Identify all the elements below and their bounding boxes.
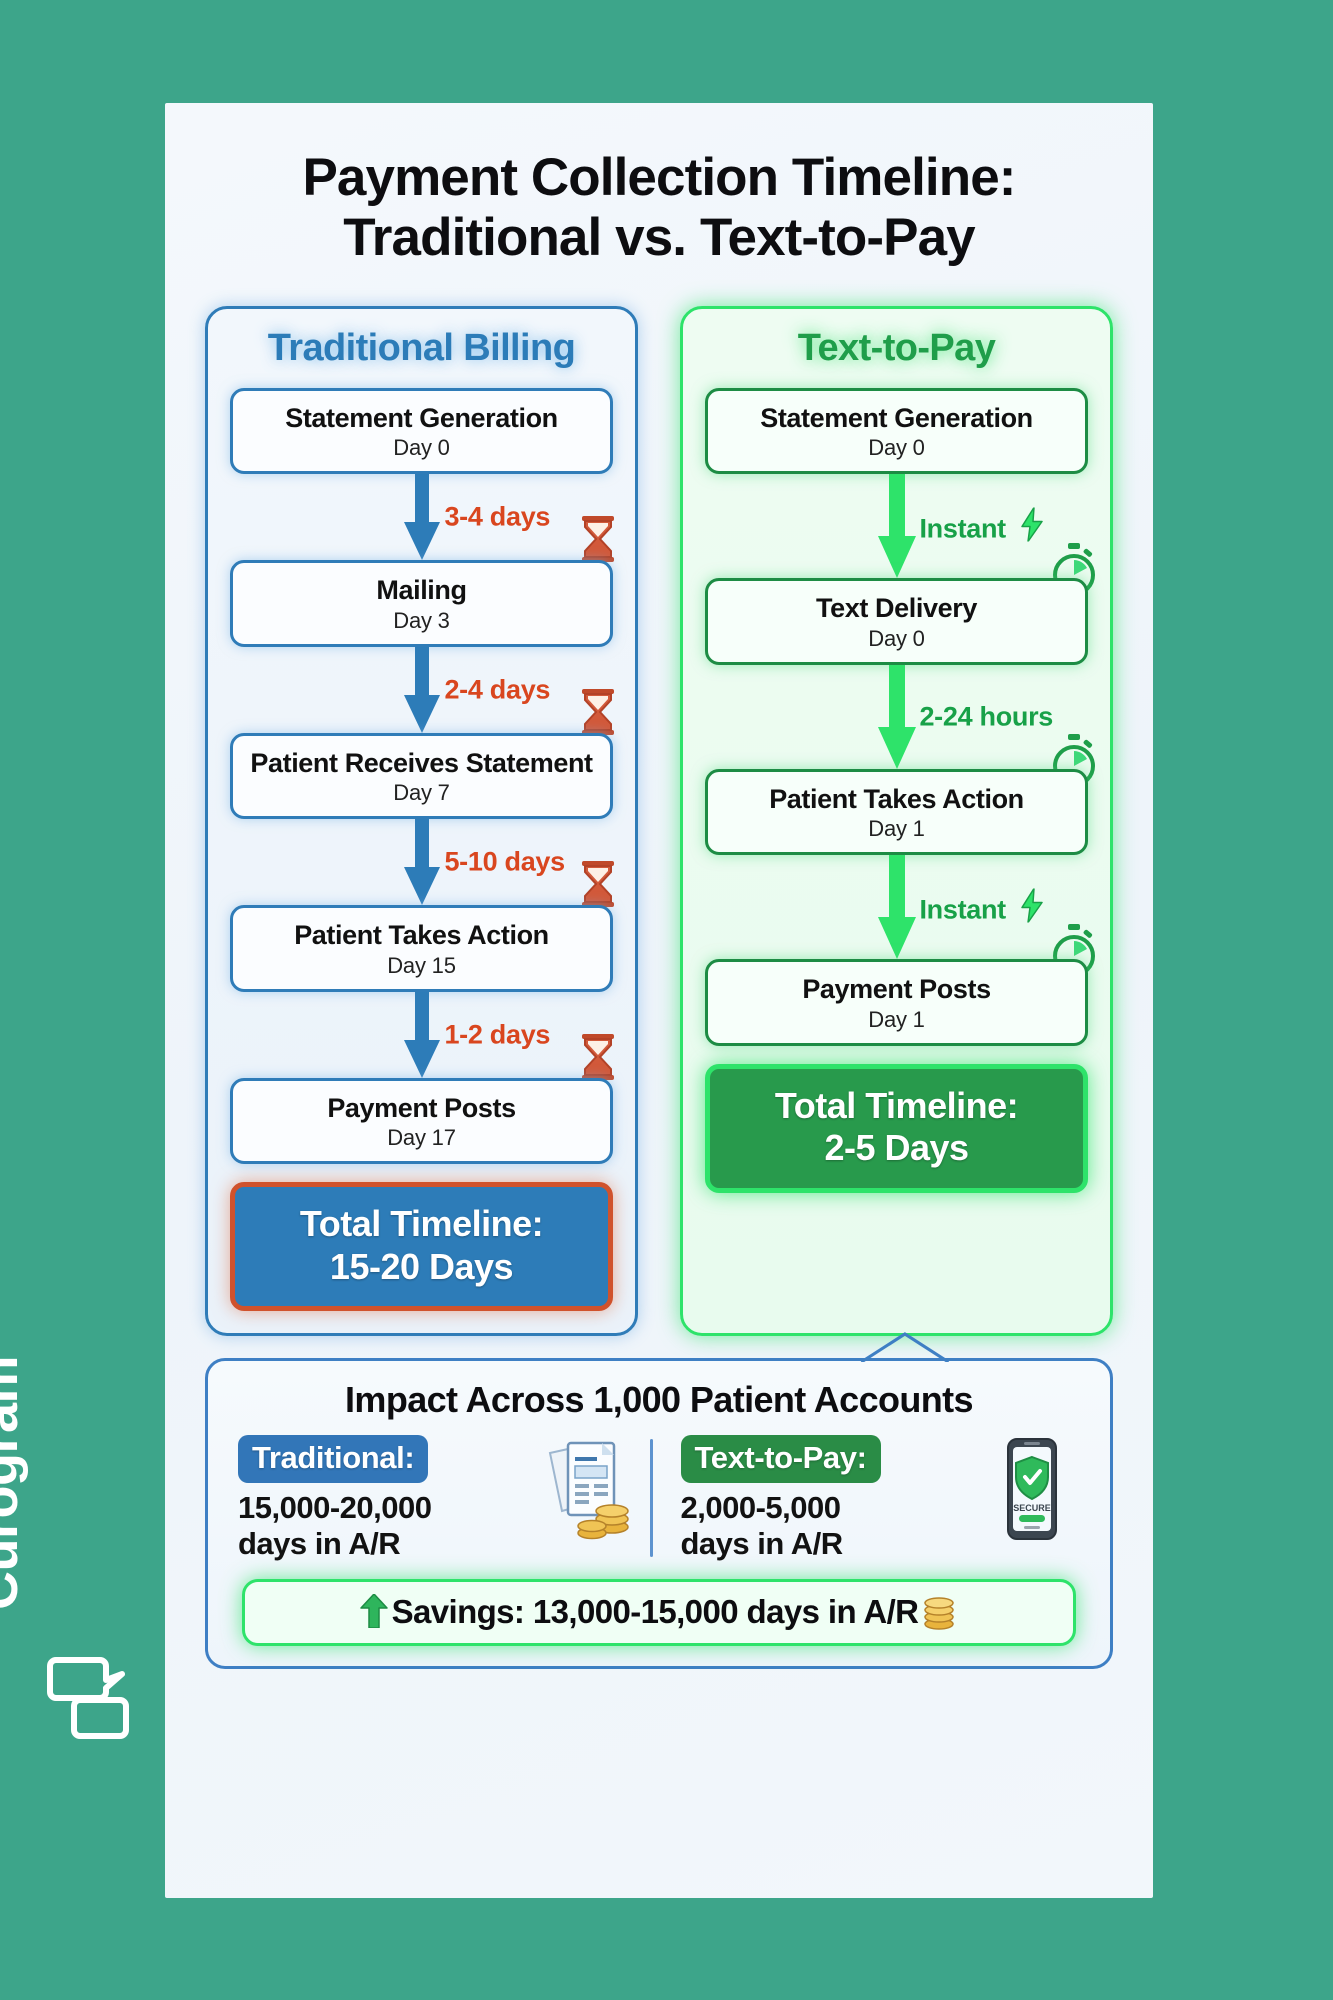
savings-text: Savings: 13,000-15,000 days in A/R: [392, 1593, 919, 1630]
total-value: 15-20 Days: [243, 1246, 600, 1288]
step-title: Payment Posts: [718, 974, 1075, 1005]
paper-statements-coins-icon: [542, 1435, 638, 1545]
comparison-columns: Traditional Billing Statement Generation…: [165, 268, 1153, 1336]
connector-3-traditional: 5-10 days: [230, 819, 613, 905]
step-payment-posts-ttp: Payment Posts Day 1: [705, 959, 1088, 1046]
impact-value-line-1: 15,000-20,000: [238, 1490, 542, 1525]
step-title: Patient Takes Action: [243, 920, 600, 951]
impact-value-line-1: 2,000-5,000: [681, 1490, 985, 1525]
step-statement-generation-ttp: Statement Generation Day 0: [705, 388, 1088, 475]
step-title: Patient Takes Action: [718, 784, 1075, 815]
column-traditional-billing: Traditional Billing Statement Generation…: [205, 306, 638, 1336]
impact-section: Impact Across 1,000 Patient Accounts Tra…: [165, 1358, 1153, 1669]
impact-text-text-to-pay: Text-to-Pay: 2,000-5,000 days in A/R: [681, 1435, 985, 1561]
step-patient-takes-action-ttp: Patient Takes Action Day 1: [705, 769, 1088, 856]
column-text-to-pay: Text-to-Pay Statement Generation Day 0 I…: [680, 306, 1113, 1336]
impact-panel: Impact Across 1,000 Patient Accounts Tra…: [205, 1358, 1113, 1669]
impact-chip-text-to-pay: Text-to-Pay:: [681, 1435, 881, 1483]
step-title: Text Delivery: [718, 593, 1075, 624]
impact-chip-traditional: Traditional:: [238, 1435, 428, 1483]
secure-phone-icon: SECURE: [984, 1435, 1080, 1545]
step-title: Statement Generation: [243, 403, 600, 434]
step-day: Day 1: [718, 1007, 1075, 1033]
connector-label: 1-2 days: [444, 1019, 550, 1050]
hourglass-icon: [577, 514, 619, 564]
title-line-1: Payment Collection Timeline:: [205, 148, 1113, 208]
up-arrow-icon: [360, 1594, 388, 1628]
hourglass-icon: [577, 859, 619, 909]
lightning-bolt-icon: [1019, 889, 1045, 923]
connector-label: Instant: [919, 508, 1045, 545]
step-patient-takes-action-traditional: Patient Takes Action Day 15: [230, 905, 613, 992]
step-statement-generation-traditional: Statement Generation Day 0: [230, 388, 613, 475]
impact-text-traditional: Traditional: 15,000-20,000 days in A/R: [238, 1435, 542, 1561]
step-payment-posts-traditional: Payment Posts Day 17: [230, 1078, 613, 1165]
impact-divider: [650, 1439, 653, 1557]
connector-4-traditional: 1-2 days: [230, 992, 613, 1078]
total-value: 2-5 Days: [718, 1127, 1075, 1169]
impact-side-traditional: Traditional: 15,000-20,000 days in A/R: [232, 1435, 644, 1561]
connector-label: Instant: [919, 889, 1045, 926]
total-label: Total Timeline:: [718, 1085, 1075, 1127]
step-title: Statement Generation: [718, 403, 1075, 434]
step-title: Patient Receives Statement: [243, 748, 600, 779]
impact-side-text-to-pay: Text-to-Pay: 2,000-5,000 days in A/R: [659, 1435, 1087, 1561]
step-mailing-traditional: Mailing Day 3: [230, 560, 613, 647]
brand-rail: Curogram: [0, 0, 165, 2000]
impact-value-text-to-pay: 2,000-5,000 days in A/R: [681, 1490, 985, 1561]
connector-label: 2-4 days: [444, 674, 550, 705]
impact-title: Impact Across 1,000 Patient Accounts: [232, 1379, 1086, 1421]
step-day: Day 15: [243, 953, 600, 979]
impact-grid: Traditional: 15,000-20,000 days in A/R: [232, 1435, 1086, 1561]
down-arrow-icon: [877, 665, 917, 769]
step-day: Day 17: [243, 1125, 600, 1151]
coins-icon: [920, 1592, 958, 1630]
connector-label-text: Instant: [919, 514, 1005, 544]
brand-wordmark: Curogram: [0, 1356, 30, 1610]
step-day: Day 0: [718, 626, 1075, 652]
connector-2-ttp: 2-24 hours: [705, 665, 1088, 769]
connector-2-traditional: 2-4 days: [230, 647, 613, 733]
step-title: Mailing: [243, 575, 600, 606]
step-day: Day 0: [718, 435, 1075, 461]
total-timeline-text-to-pay: Total Timeline: 2-5 Days: [705, 1064, 1088, 1193]
step-patient-receives-statement-traditional: Patient Receives Statement Day 7: [230, 733, 613, 820]
hourglass-icon: [577, 687, 619, 737]
step-day: Day 3: [243, 608, 600, 634]
step-text-delivery-ttp: Text Delivery Day 0: [705, 578, 1088, 665]
column-heading-text-to-pay: Text-to-Pay: [705, 327, 1088, 370]
hourglass-icon: [577, 1032, 619, 1082]
step-day: Day 1: [718, 816, 1075, 842]
down-arrow-icon: [402, 819, 442, 905]
down-arrow-icon: [877, 855, 917, 959]
step-day: Day 0: [243, 435, 600, 461]
down-arrow-icon: [402, 474, 442, 560]
impact-value-line-2: days in A/R: [238, 1526, 542, 1561]
connector-label: 5-10 days: [444, 847, 564, 878]
down-arrow-icon: [402, 647, 442, 733]
title-line-2: Traditional vs. Text-to-Pay: [205, 208, 1113, 268]
down-arrow-icon: [402, 992, 442, 1078]
connector-label: 2-24 hours: [919, 701, 1053, 732]
step-title: Payment Posts: [243, 1093, 600, 1124]
chat-bubbles-icon: [46, 1644, 132, 1740]
page-title: Payment Collection Timeline: Traditional…: [165, 103, 1153, 268]
connector-1-ttp: Instant: [705, 474, 1088, 578]
savings-bar: Savings: 13,000-15,000 days in A/R: [242, 1579, 1076, 1646]
total-timeline-traditional: Total Timeline: 15-20 Days: [230, 1182, 613, 1311]
infographic-card: Payment Collection Timeline: Traditional…: [165, 103, 1153, 1898]
connector-label-text: Instant: [919, 895, 1005, 925]
connector-label: 3-4 days: [444, 502, 550, 533]
step-day: Day 7: [243, 780, 600, 806]
total-label: Total Timeline:: [243, 1203, 600, 1245]
column-heading-traditional: Traditional Billing: [230, 327, 613, 370]
connector-1-traditional: 3-4 days: [230, 474, 613, 560]
down-arrow-icon: [877, 474, 917, 578]
connector-3-ttp: Instant: [705, 855, 1088, 959]
lightning-bolt-icon: [1019, 508, 1045, 542]
secure-label: SECURE: [1013, 1503, 1051, 1513]
impact-value-line-2: days in A/R: [681, 1526, 985, 1561]
impact-value-traditional: 15,000-20,000 days in A/R: [238, 1490, 542, 1561]
